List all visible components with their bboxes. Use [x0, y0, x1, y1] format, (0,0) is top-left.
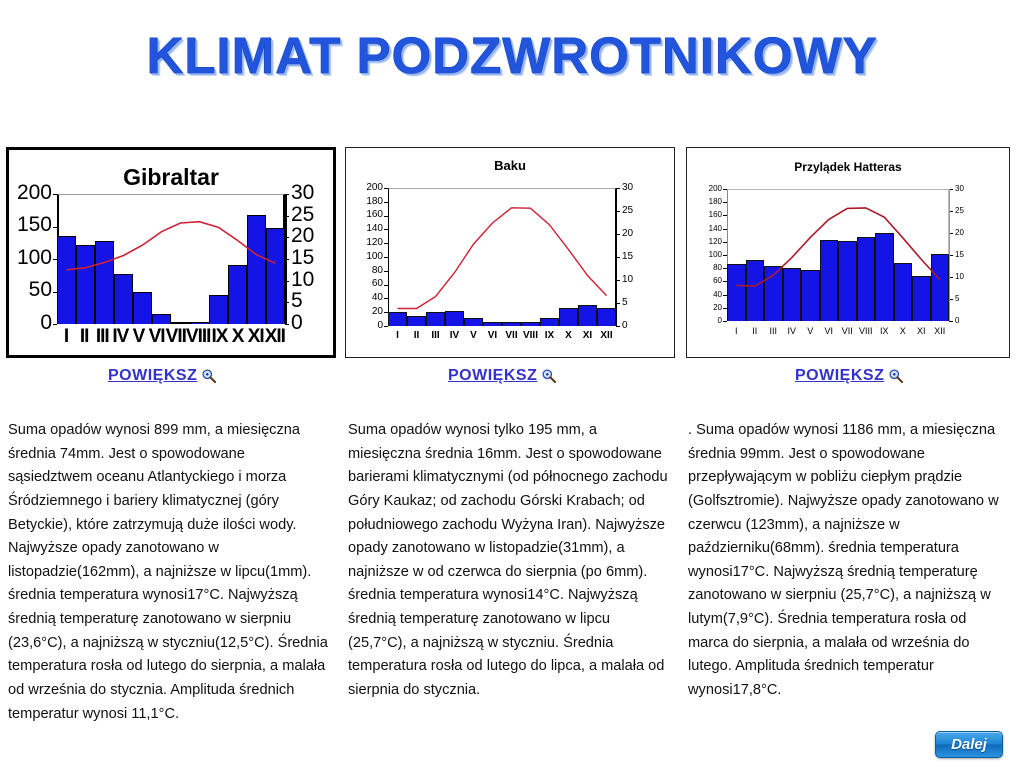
x-axis-tick-label: III	[764, 326, 783, 336]
x-axis-tick-label: V	[801, 326, 820, 336]
y-axis-tick-label-left: 140	[346, 223, 383, 234]
x-axis-tick-label: I	[388, 330, 407, 341]
y-axis-tick-label-right: 20	[291, 224, 314, 248]
x-axis-tick-label: XI	[247, 326, 265, 348]
axis-tick-mark	[384, 257, 388, 258]
chart-title-hatteras: Przylądek Hatteras	[687, 160, 1009, 174]
x-axis-tick-label: V	[464, 330, 483, 341]
axis-tick-mark	[723, 202, 727, 203]
axis-tick-mark	[384, 312, 388, 313]
x-axis-labels-gibraltar: IIIIIIIVVVIVIIVIIIIXXXIXII	[57, 326, 285, 348]
next-button-label: Dalej	[951, 736, 987, 753]
axis-tick-mark	[53, 227, 57, 228]
bar	[76, 245, 95, 324]
axis-tick-mark	[723, 308, 727, 309]
x-axis-tick-label: II	[407, 330, 426, 341]
y-axis-tick-label-left: 200	[687, 184, 722, 193]
y-axis-tick-label-left: 140	[687, 224, 722, 233]
bar	[247, 215, 266, 324]
bar	[426, 312, 445, 326]
bar	[746, 260, 765, 321]
axis-tick-mark	[723, 255, 727, 256]
y-axis-tick-label-right: 10	[291, 268, 314, 292]
y-axis-tick-label-right: 5	[622, 297, 628, 308]
y-axis-tick-label-left: 50	[9, 278, 52, 302]
bar	[266, 228, 285, 324]
bar	[57, 236, 76, 324]
y-axis-tick-label-left: 100	[346, 251, 383, 262]
x-axis-labels-hatteras: IIIIIIIVVVIVIIVIIIIXXXIXII	[727, 326, 949, 336]
plot-area-baku	[388, 188, 616, 326]
y-axis-tick-label-right: 20	[622, 228, 633, 239]
x-axis-tick-label: IV	[445, 330, 464, 341]
bar	[894, 263, 913, 321]
bar	[388, 312, 407, 326]
zoom-link-hatteras[interactable]: POWIĘKSZ	[795, 367, 904, 385]
bar	[228, 265, 247, 324]
slide-root: KLIMAT PODZWROTNIKOWY Gibraltar IIIIIIIV…	[0, 0, 1024, 768]
x-axis-tick-label: VII	[166, 326, 186, 348]
x-axis-tick-label: XII	[597, 330, 616, 341]
bar	[209, 295, 228, 324]
description-gibraltar: Suma opadów wynosi 899 mm, a miesięczna …	[8, 419, 328, 726]
magnifier-plus-icon	[541, 368, 557, 384]
axis-tick-mark	[723, 215, 727, 216]
x-axis-tick-label: VIII	[186, 326, 211, 348]
bar	[445, 311, 464, 326]
bar	[597, 308, 616, 326]
bar	[483, 322, 502, 326]
y-axis-tick-label-right: 15	[955, 250, 964, 259]
zoom-link-label: POWIĘKSZ	[795, 367, 884, 385]
y-axis-tick-label-left: 160	[346, 209, 383, 220]
bar	[152, 314, 171, 324]
next-button[interactable]: Dalej	[935, 731, 1003, 758]
y-axis-tick-label-left: 60	[687, 276, 722, 285]
y-axis-tick-label-left: 20	[687, 303, 722, 312]
axis-tick-mark	[384, 326, 388, 327]
y-axis-tick-label-right: 30	[291, 181, 314, 205]
y-axis-tick-label-left: 120	[687, 237, 722, 246]
y-axis-tick-label-left: 180	[346, 196, 383, 207]
bar	[912, 276, 931, 321]
axis-tick-mark	[949, 321, 953, 322]
x-axis-tick-label: VIII	[521, 330, 540, 341]
plot-area-hatteras	[727, 189, 949, 321]
y-axis-tick-label-left: 160	[687, 210, 722, 219]
y-axis-tick-label-left: 150	[9, 213, 52, 237]
bar	[95, 241, 114, 324]
x-axis-tick-label: VI	[820, 326, 839, 336]
y-axis-tick-label-right: 30	[622, 182, 633, 193]
x-axis-tick-label: I	[57, 326, 75, 348]
bars-hatteras	[727, 189, 949, 321]
bar	[133, 292, 152, 325]
y-axis-tick-label-right: 0	[622, 320, 628, 331]
bars-baku	[388, 188, 616, 326]
y-axis-tick-label-right: 10	[622, 274, 633, 285]
x-axis-tick-label: IV	[111, 326, 129, 348]
y-axis-tick-label-left: 20	[346, 306, 383, 317]
y-axis-tick-label-left: 200	[346, 182, 383, 193]
axis-tick-mark	[384, 202, 388, 203]
y-axis-tick-label-right: 20	[955, 228, 964, 237]
description-baku: Suma opadów wynosi tylko 195 mm, a miesi…	[348, 419, 668, 703]
y-axis-tick-label-right: 25	[955, 206, 964, 215]
x-axis-tick-label: III	[93, 326, 111, 348]
axis-tick-mark	[723, 229, 727, 230]
y-axis-tick-label-left: 200	[9, 181, 52, 205]
bar	[114, 274, 133, 324]
chart-panel-hatteras: Przylądek Hatteras IIIIIIIVVVIVIIVIIIIXX…	[686, 147, 1010, 358]
magnifier-plus-icon	[201, 368, 217, 384]
y-axis-tick-label-left: 120	[346, 237, 383, 248]
bar	[931, 254, 950, 321]
axis-tick-mark	[285, 324, 289, 325]
x-axis-tick-label: VI	[483, 330, 502, 341]
zoom-link-baku[interactable]: POWIĘKSZ	[448, 367, 557, 385]
axis-tick-mark	[53, 259, 57, 260]
zoom-link-label: POWIĘKSZ	[108, 367, 197, 385]
axis-tick-mark	[723, 321, 727, 322]
y-axis-tick-label-right: 30	[955, 184, 964, 193]
x-axis-tick-label: VI	[148, 326, 166, 348]
right-axis-spine	[949, 189, 950, 321]
axis-tick-mark	[616, 326, 620, 327]
x-axis-tick-label: IX	[540, 330, 559, 341]
axis-tick-mark	[384, 285, 388, 286]
axis-tick-mark	[384, 216, 388, 217]
bar	[171, 323, 190, 324]
bar	[838, 241, 857, 321]
x-axis-tick-label: V	[129, 326, 147, 348]
bar	[502, 322, 521, 326]
x-axis-tick-label: II	[75, 326, 93, 348]
y-axis-tick-label-right: 25	[622, 205, 633, 216]
axis-tick-mark	[723, 295, 727, 296]
y-axis-tick-label-left: 180	[687, 197, 722, 206]
axis-tick-mark	[384, 188, 388, 189]
y-axis-tick-label-left: 40	[346, 292, 383, 303]
chart-title-baku: Baku	[346, 158, 674, 173]
bar	[764, 266, 783, 321]
y-axis-tick-label-right: 15	[291, 246, 314, 270]
bar	[540, 318, 559, 326]
x-axis-tick-label: X	[894, 326, 913, 336]
x-axis-tick-label: IX	[875, 326, 894, 336]
x-axis-tick-label: IX	[210, 326, 228, 348]
page-title: KLIMAT PODZWROTNIKOWY	[0, 26, 1024, 85]
x-axis-tick-label: II	[746, 326, 765, 336]
x-axis-tick-label: I	[727, 326, 746, 336]
x-axis-tick-label: VII	[502, 330, 521, 341]
x-axis-tick-label: X	[559, 330, 578, 341]
bar	[578, 305, 597, 326]
page-title-text: KLIMAT PODZWROTNIKOWY	[146, 26, 877, 85]
bar	[875, 233, 894, 321]
y-axis-tick-label-right: 15	[622, 251, 633, 262]
x-axis-tick-label: XI	[578, 330, 597, 341]
x-axis-tick-label: XII	[265, 326, 285, 348]
bar	[801, 270, 820, 321]
zoom-link-label: POWIĘKSZ	[448, 367, 537, 385]
y-axis-tick-label-right: 5	[291, 289, 303, 313]
axis-tick-mark	[53, 324, 57, 325]
plot-area-gibraltar	[57, 194, 285, 324]
right-axis-spine	[285, 194, 287, 324]
bar	[727, 264, 746, 321]
description-hatteras: . Suma opadów wynosi 1186 mm, a miesięcz…	[688, 419, 1008, 703]
bar	[464, 318, 483, 326]
y-axis-tick-label-left: 80	[346, 265, 383, 276]
axis-tick-mark	[384, 243, 388, 244]
y-axis-tick-label-left: 40	[687, 290, 722, 299]
axis-tick-mark	[384, 229, 388, 230]
y-axis-tick-label-left: 0	[9, 311, 52, 335]
bar	[190, 322, 209, 324]
bar	[559, 308, 578, 326]
chart-panel-gibraltar: Gibraltar IIIIIIIVVVIVIIVIIIIXXXIXII 050…	[6, 147, 336, 358]
bar	[857, 237, 876, 321]
axis-tick-mark	[723, 268, 727, 269]
bars-gibraltar	[57, 194, 285, 324]
y-axis-tick-label-right: 5	[955, 294, 959, 303]
x-axis-tick-label: XII	[931, 326, 950, 336]
y-axis-tick-label-left: 100	[9, 246, 52, 270]
x-axis-tick-label: VII	[838, 326, 857, 336]
chart-title-gibraltar: Gibraltar	[9, 164, 333, 191]
y-axis-tick-label-right: 0	[291, 311, 303, 335]
axis-tick-mark	[53, 194, 57, 195]
x-axis-labels-baku: IIIIIIIVVVIVIIVIIIIXXXIXII	[388, 330, 616, 341]
y-axis-tick-label-right: 0	[955, 316, 959, 325]
x-axis-tick-label: III	[426, 330, 445, 341]
bar	[820, 240, 839, 321]
zoom-link-gibraltar[interactable]: POWIĘKSZ	[108, 367, 217, 385]
y-axis-tick-label-right: 25	[291, 203, 314, 227]
magnifier-plus-icon	[888, 368, 904, 384]
y-axis-tick-label-left: 0	[346, 320, 383, 331]
axis-tick-mark	[723, 189, 727, 190]
x-axis-tick-label: XI	[912, 326, 931, 336]
x-axis-tick-label: VIII	[857, 326, 876, 336]
axis-tick-mark	[53, 292, 57, 293]
x-axis-tick-label: X	[229, 326, 247, 348]
axis-tick-mark	[723, 281, 727, 282]
y-axis-tick-label-right: 10	[955, 272, 964, 281]
x-axis-tick-label: IV	[783, 326, 802, 336]
axis-tick-mark	[384, 298, 388, 299]
y-axis-tick-label-left: 0	[687, 316, 722, 325]
bar	[407, 316, 426, 326]
y-axis-tick-label-left: 60	[346, 278, 383, 289]
right-axis-spine	[616, 188, 617, 326]
y-axis-tick-label-left: 80	[687, 263, 722, 272]
chart-panel-baku: Baku IIIIIIIVVVIVIIVIIIIXXXIXII 02040608…	[345, 147, 675, 358]
bar	[783, 268, 802, 321]
axis-tick-mark	[723, 242, 727, 243]
y-axis-tick-label-left: 100	[687, 250, 722, 259]
axis-tick-mark	[384, 271, 388, 272]
bar	[521, 322, 540, 326]
